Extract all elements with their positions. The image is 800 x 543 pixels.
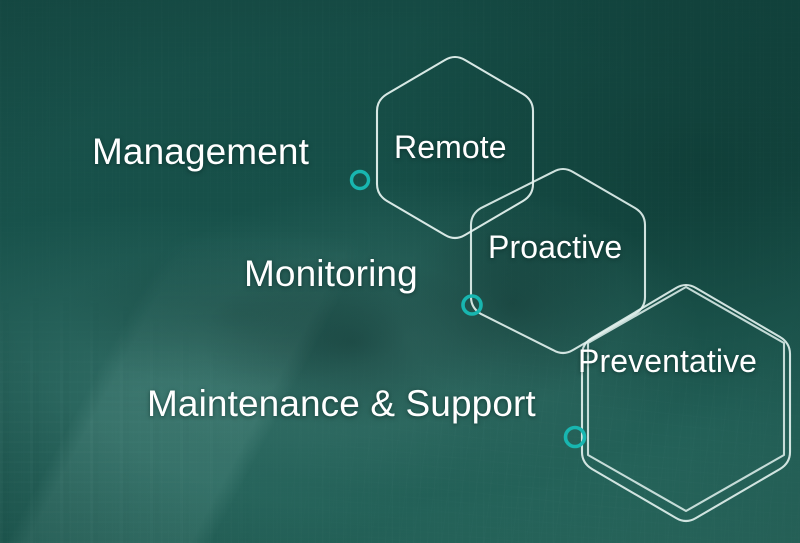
- label-remote: Remote: [394, 131, 507, 163]
- infographic-canvas: Management Monitoring Maintenance & Supp…: [0, 0, 800, 543]
- label-proactive: Proactive: [488, 231, 622, 263]
- label-management: Management: [92, 133, 309, 170]
- label-maintenance-support: Maintenance & Support: [147, 385, 536, 422]
- label-monitoring: Monitoring: [244, 255, 418, 292]
- hexagon-preventative: [582, 285, 790, 521]
- label-preventative: Preventative: [578, 345, 757, 377]
- connector-node-management: [352, 172, 369, 189]
- hexagon-preventative-outline: [588, 287, 784, 511]
